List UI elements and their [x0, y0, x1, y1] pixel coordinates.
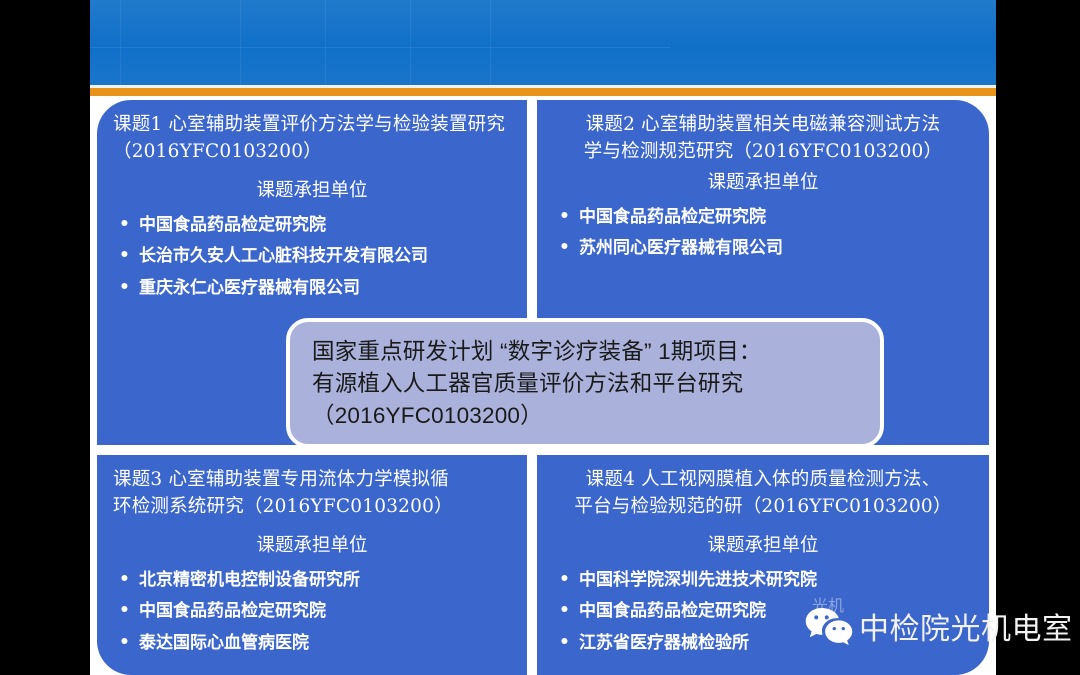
- unit-list: 中国科学院深圳先进技术研究院 中国食品药品检定研究院 江苏省医疗器械检验所: [553, 565, 973, 659]
- panel-title: 课题1 心室辅助装置评价方法学与检验装置研究 （2016YFC0103200）: [113, 112, 511, 166]
- screenshot-stage: 课题1 心室辅助装置评价方法学与检验装置研究 （2016YFC0103200） …: [0, 0, 1080, 675]
- list-item: 中国食品药品检定研究院: [119, 596, 511, 627]
- list-item: 江苏省医疗器械检验所: [559, 628, 973, 659]
- list-item: 中国食品药品检定研究院: [559, 202, 973, 233]
- list-item: 泰达国际心血管病医院: [119, 628, 511, 659]
- unit-list: 中国食品药品检定研究院 长治市久安人工心脏科技开发有限公司 重庆永仁心医疗器械有…: [113, 210, 511, 304]
- list-item: 中国食品药品检定研究院: [559, 596, 973, 627]
- panel-topic-3[interactable]: 课题3 心室辅助装置专用流体力学模拟循 环检测系统研究（2016YFC01032…: [97, 455, 527, 675]
- header-grid-line: [90, 47, 670, 48]
- project-callout-text: 国家重点研发计划 “数字诊疗装备” 1期项目： 有源植入人工器官质量评价方法和平…: [312, 336, 862, 432]
- list-item: 中国食品药品检定研究院: [119, 210, 511, 241]
- project-callout-box[interactable]: 国家重点研发计划 “数字诊疗装备” 1期项目： 有源植入人工器官质量评价方法和平…: [286, 318, 884, 448]
- header-grid-line: [490, 0, 491, 85]
- header-band-sheen: [90, 0, 996, 85]
- header-grid-line: [410, 0, 411, 85]
- panel-title: 课题2 心室辅助装置相关电磁兼容测试方法 学与检测规范研究（2016YFC010…: [553, 112, 973, 166]
- panel-subtitle: 课题承担单位: [113, 176, 511, 202]
- list-item: 中国科学院深圳先进技术研究院: [559, 565, 973, 596]
- list-item: 重庆永仁心医疗器械有限公司: [119, 273, 511, 304]
- header-grid-line: [120, 0, 121, 85]
- list-item: 北京精密机电控制设备研究所: [119, 565, 511, 596]
- unit-list: 中国食品药品检定研究院 苏州同心医疗器械有限公司: [553, 202, 973, 265]
- slide-canvas: 课题1 心室辅助装置评价方法学与检验装置研究 （2016YFC0103200） …: [90, 0, 996, 675]
- panel-subtitle: 课题承担单位: [553, 531, 973, 557]
- panel-subtitle: 课题承担单位: [553, 168, 973, 194]
- header-grid-line: [325, 0, 326, 85]
- list-item: 苏州同心医疗器械有限公司: [559, 233, 973, 264]
- panel-subtitle: 课题承担单位: [113, 531, 511, 557]
- list-item: 长治市久安人工心脏科技开发有限公司: [119, 241, 511, 272]
- panel-title: 课题3 心室辅助装置专用流体力学模拟循 环检测系统研究（2016YFC01032…: [113, 467, 511, 521]
- panel-topic-4[interactable]: 课题4 人工视网膜植入体的质量检测方法、 平台与检验规范的研（2016YFC01…: [537, 455, 989, 675]
- header-band: [90, 0, 996, 85]
- accent-bar: [90, 88, 996, 96]
- unit-list: 北京精密机电控制设备研究所 中国食品药品检定研究院 泰达国际心血管病医院: [113, 565, 511, 659]
- panel-title: 课题4 人工视网膜植入体的质量检测方法、 平台与检验规范的研（2016YFC01…: [553, 467, 973, 521]
- header-grid-line: [240, 0, 241, 85]
